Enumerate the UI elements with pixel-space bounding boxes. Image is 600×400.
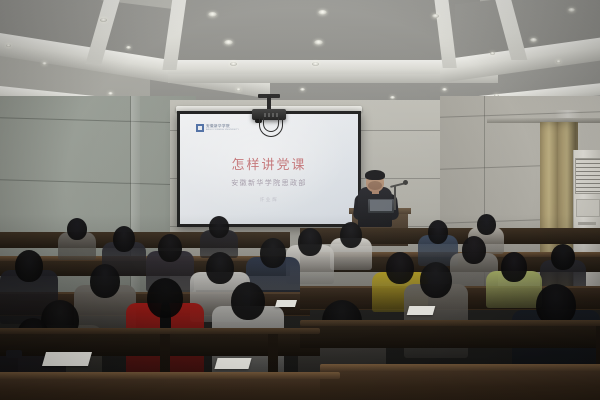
audience-member-head — [551, 244, 575, 270]
audience-member-head — [147, 278, 183, 318]
speaker-hair — [365, 170, 385, 180]
audience-member-head — [231, 282, 265, 320]
audience-member-head — [15, 250, 43, 282]
slide-presenter-name: 许业辉 — [180, 197, 358, 203]
slide-logo: 安徽新华学院 ANHUI XINHUA UNIVERSITY — [196, 124, 239, 132]
audience-member-head — [340, 222, 362, 248]
audience-member-white-shirt-man-row4 — [330, 222, 372, 270]
audience-member-head — [501, 252, 527, 282]
paper-left-desk — [42, 352, 92, 366]
phone-on-desk — [6, 350, 22, 358]
audience-member-head — [428, 220, 448, 244]
slide-logo-subtext: ANHUI XINHUA UNIVERSITY — [206, 129, 239, 131]
audience-member-head — [67, 218, 87, 240]
paper-center-desk — [214, 358, 251, 369]
slide-subtitle: 安徽新华学院思政部 — [180, 178, 358, 188]
audience-member-head — [90, 264, 120, 298]
microphone-stand — [394, 186, 396, 210]
microphone-icon — [403, 180, 408, 185]
audience-member-head — [477, 214, 496, 235]
audience-member-head — [209, 216, 229, 238]
slide-title: 怎样讲党课 — [180, 154, 358, 173]
laptop-screen — [370, 200, 392, 211]
audience-area — [0, 214, 600, 400]
audience-member-head — [206, 252, 234, 284]
audience-member-grey-top-row5 — [58, 218, 96, 260]
slide-logo-text: 安徽新华学院 — [206, 125, 239, 129]
audience-member-head — [420, 262, 452, 298]
air-conditioner-vent-icon — [575, 158, 600, 194]
audience-member-head — [260, 238, 286, 268]
university-logo-icon — [196, 124, 204, 132]
audience-member-head — [298, 228, 322, 256]
speaker-face-shadow — [368, 181, 382, 190]
audience-member-head — [113, 226, 135, 252]
audience-member-head — [158, 234, 182, 262]
projector-mount-pole — [267, 96, 271, 110]
audience-member-head — [462, 236, 486, 264]
paper-right-desk — [407, 306, 436, 315]
lecture-hall-photo: 安徽新华学院 ANHUI XINHUA UNIVERSITY 怎样讲党课 安徽新… — [0, 0, 600, 400]
paper-far-right-desk — [275, 300, 297, 307]
